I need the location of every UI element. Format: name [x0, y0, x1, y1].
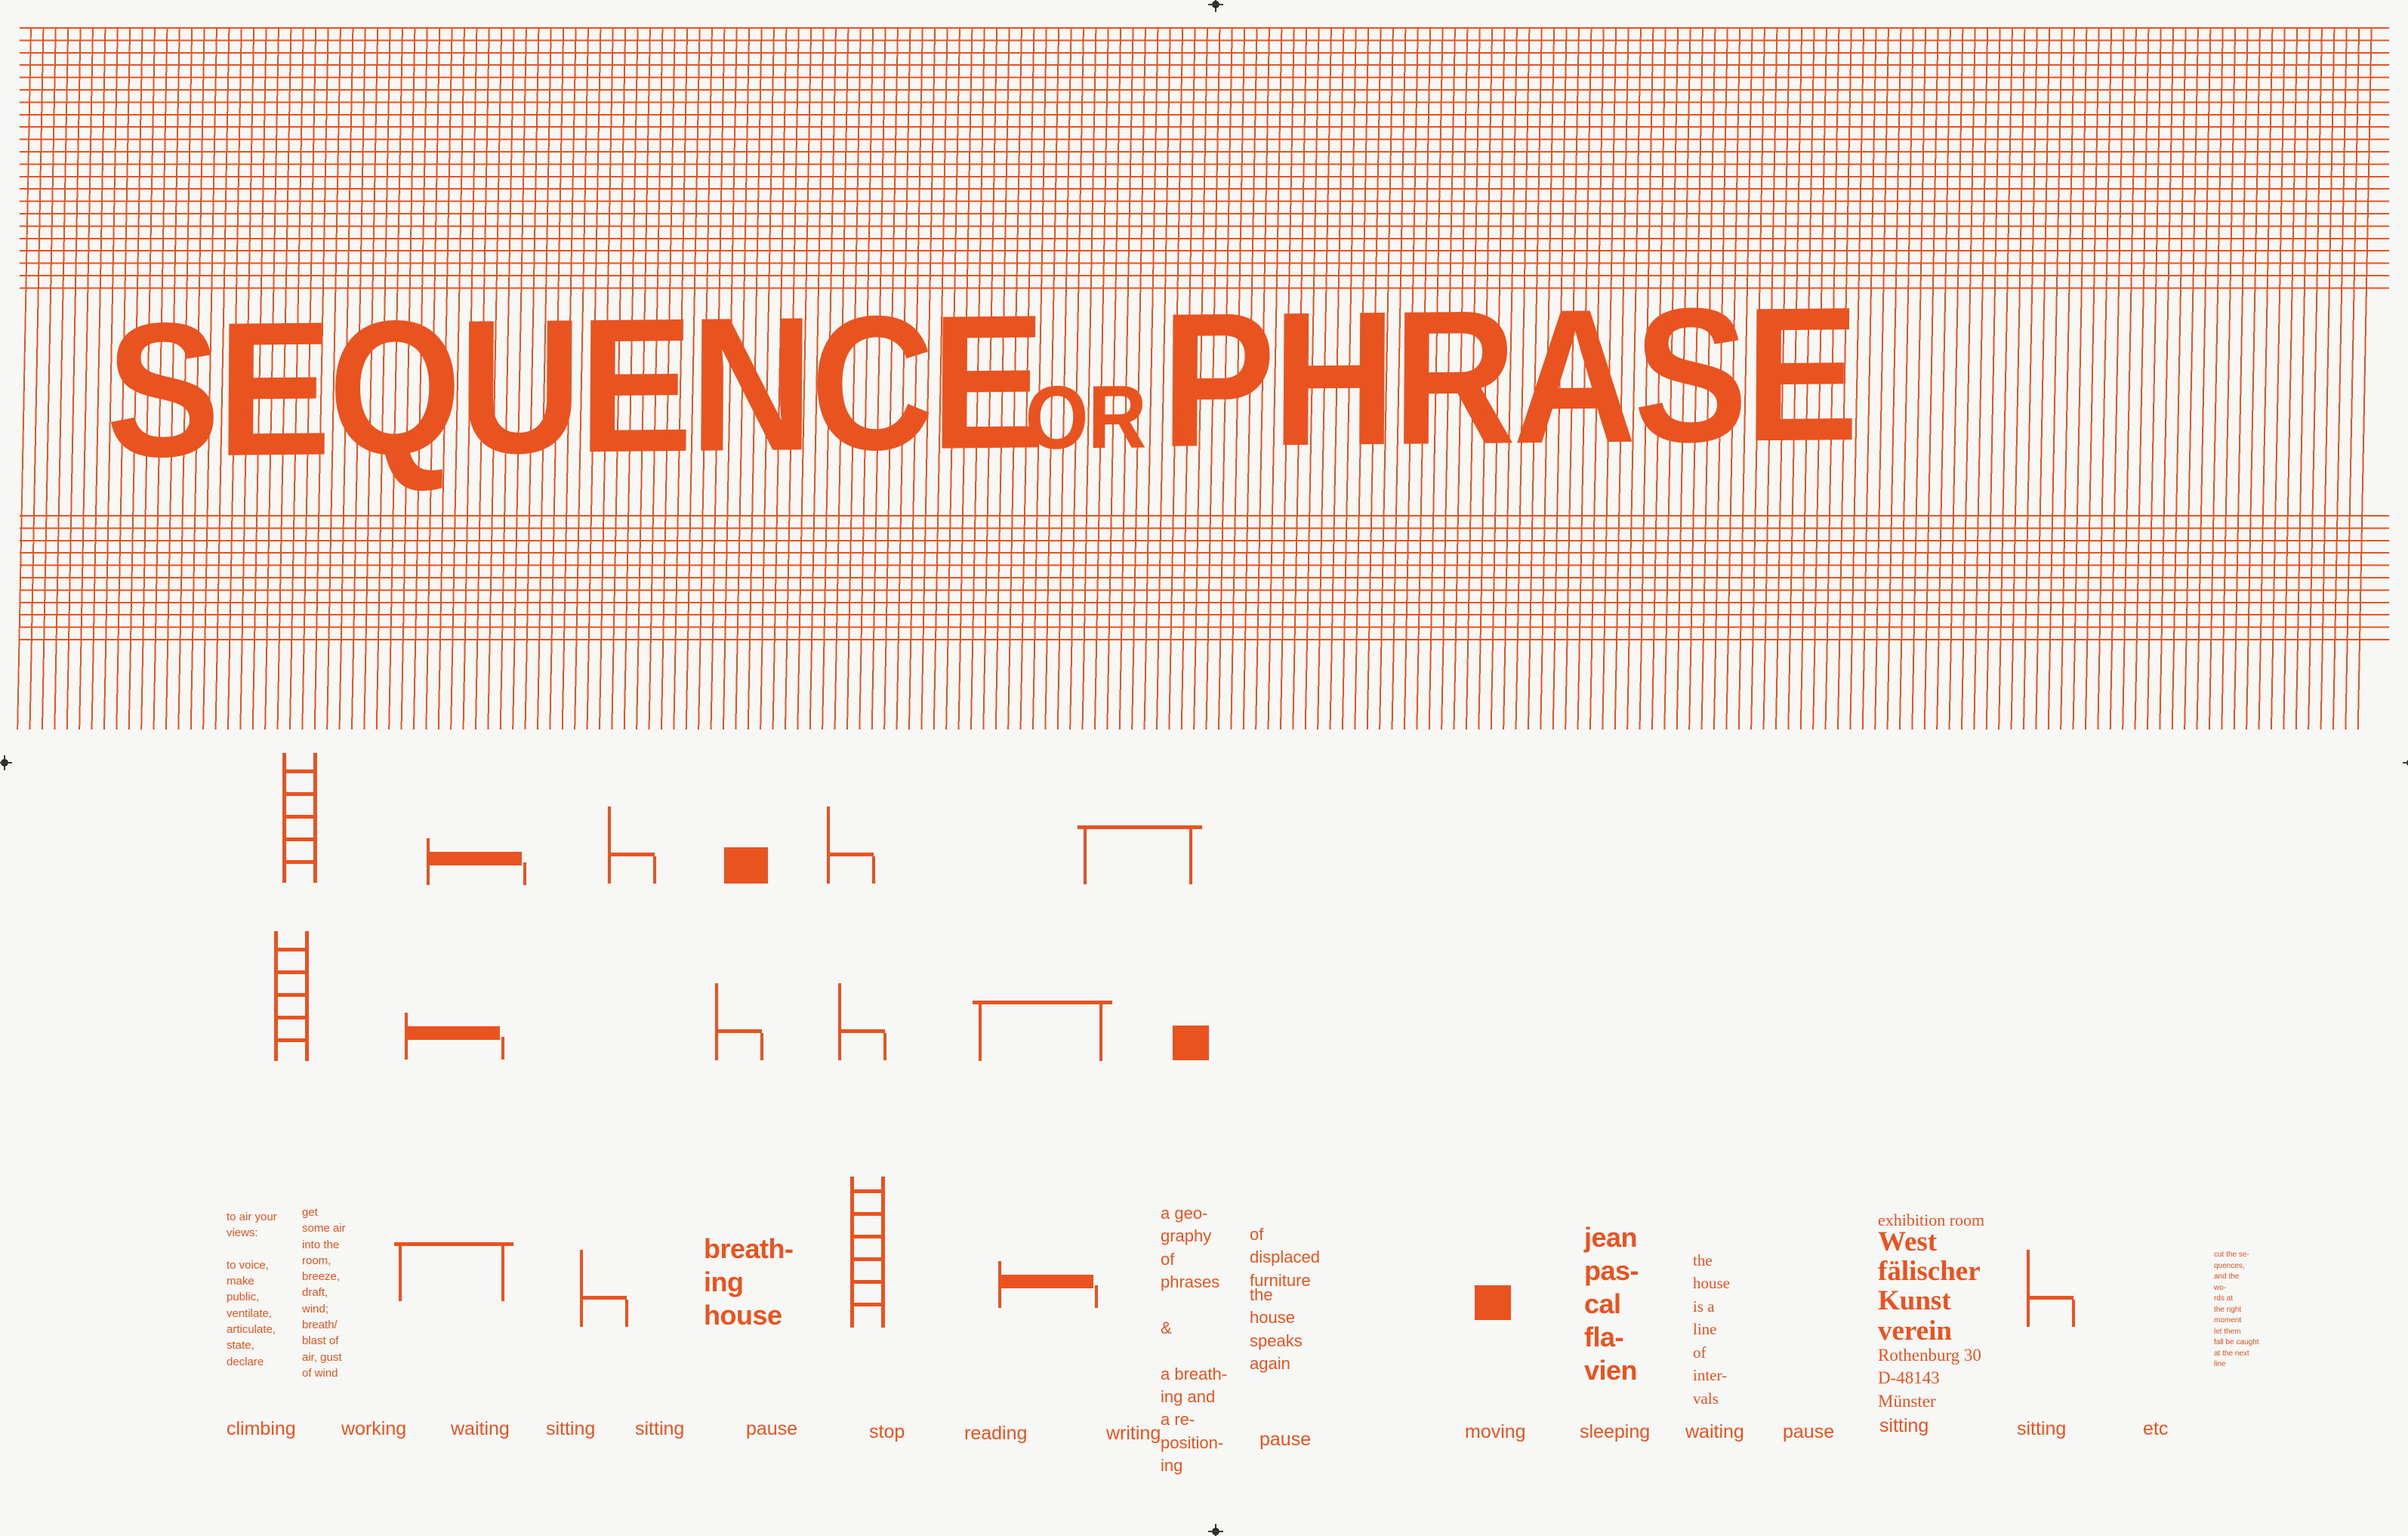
pictogram-chair	[608, 807, 658, 884]
horizontal-grid-lines-top	[20, 27, 2389, 293]
pictogram-ladder	[282, 753, 317, 883]
pictogram-bed	[998, 1261, 1100, 1308]
text-block-air-views: to air your views: to voice, make public…	[227, 1209, 310, 1370]
text-block-geography: a geo- graphy of phrases & a breath- ing…	[1161, 1202, 1233, 1477]
caption-label: pause	[1783, 1421, 1834, 1443]
poster-canvas: SEQUENCE OR PHRASE	[0, 0, 2408, 1536]
caption-label: sitting	[1879, 1415, 1929, 1437]
caption-label: etc	[2143, 1418, 2168, 1440]
caption-label: stop	[869, 1421, 905, 1443]
text-block-displaced-furniture: of displaced furniture	[1250, 1223, 1340, 1292]
pictogram-chair	[838, 983, 888, 1060]
pictogram-chair	[827, 807, 877, 884]
pictogram-square	[1475, 1285, 1511, 1320]
horizontal-grid-lines-bottom	[20, 515, 2389, 648]
pictogram-table	[394, 1242, 513, 1301]
text-block-breathing-house: breath- ing house	[704, 1232, 809, 1332]
pictogram-table	[973, 1001, 1112, 1061]
text-block-cut-sequences: cut the se- quences, and the wo- rds at …	[2214, 1250, 2286, 1371]
caption-label: waiting	[451, 1418, 510, 1440]
caption-label: sitting	[546, 1418, 595, 1440]
title-word-or: OR	[1025, 380, 1147, 456]
venue-name: West fälischer Kunst verein	[1878, 1227, 2036, 1346]
pictogram-bed	[405, 1013, 507, 1059]
pictogram-chair	[715, 983, 765, 1060]
page-title: SEQUENCE OR PHRASE	[106, 281, 1844, 471]
registration-mark-top	[1208, 0, 1223, 12]
caption-label: sitting	[635, 1418, 684, 1440]
caption-label: reading	[964, 1423, 1027, 1445]
caption-label: climbing	[227, 1418, 296, 1440]
text-block-artist-name: jean pas- cal fla- vien	[1584, 1221, 1667, 1387]
title-word-sequence: SEQUENCE	[106, 302, 1043, 471]
caption-label: pause	[1259, 1429, 1311, 1451]
text-block-get-some-air: get some air into the room, breeze, draf…	[302, 1204, 352, 1381]
venue-address: Rothenburg 30 D-48143 Münster	[1878, 1344, 2052, 1413]
caption-label: sitting	[2017, 1418, 2066, 1440]
text-block-intervals: the house is a line of inter- vals	[1693, 1249, 1746, 1410]
registration-mark-bottom	[1208, 1524, 1223, 1536]
caption-label: pause	[746, 1418, 797, 1440]
pictogram-square	[1173, 1026, 1209, 1060]
registration-mark-left	[0, 755, 12, 770]
pictogram-chair	[580, 1250, 630, 1327]
caption-label: working	[341, 1418, 406, 1440]
caption-label: moving	[1465, 1421, 1526, 1443]
pictogram-bed	[427, 838, 529, 885]
pictogram-ladder	[274, 931, 309, 1061]
registration-mark-right	[2403, 755, 2408, 770]
grid-graphic-band: SEQUENCE OR PHRASE	[30, 27, 2379, 729]
text-block-house-speaks: the house speaks again	[1250, 1284, 1333, 1375]
pictogram-ladder	[850, 1177, 885, 1328]
caption-label: waiting	[1685, 1421, 1744, 1443]
pictogram-square	[724, 847, 768, 884]
caption-label: sleeping	[1580, 1421, 1650, 1443]
caption-label: writing	[1106, 1423, 1161, 1445]
title-word-phrase: PHRASE	[1161, 294, 1857, 461]
pictogram-table	[1078, 825, 1202, 884]
